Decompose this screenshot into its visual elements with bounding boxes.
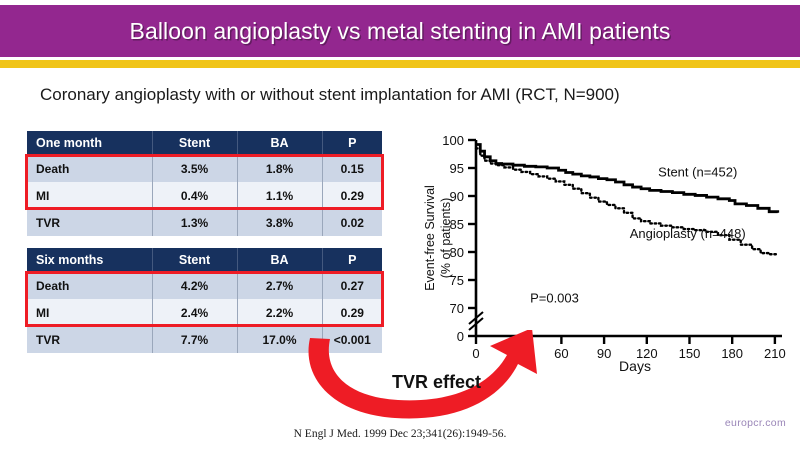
citation-text: N Engl J Med. 1999 Dec 23;341(26):1949-5… — [0, 428, 800, 440]
table-one-month: One month Stent BA P Death 3.5% 1.8% 0.1… — [27, 131, 382, 236]
table-row: TVR 1.3% 3.8% 0.02 — [27, 209, 382, 236]
row-label: MI — [27, 299, 152, 326]
cell-p: 0.29 — [322, 182, 382, 209]
cell-p: 0.29 — [322, 299, 382, 326]
europcr-logo: europcr.com — [725, 417, 786, 429]
x-tick-label: 180 — [721, 346, 743, 361]
table-row: Death 4.2% 2.7% 0.27 — [27, 272, 382, 299]
cell-ba: 2.2% — [237, 299, 322, 326]
col-header-period: One month — [27, 131, 152, 155]
chart-annotation-1: Stent (n=452) — [658, 164, 737, 179]
table-row: MI 0.4% 1.1% 0.29 — [27, 182, 382, 209]
col-header-p: P — [322, 248, 382, 272]
cell-p: 0.02 — [322, 209, 382, 236]
cell-stent: 4.2% — [152, 272, 237, 299]
x-tick-label: 210 — [764, 346, 786, 361]
y-tick-label: 70 — [450, 301, 464, 316]
col-header-p: P — [322, 131, 382, 155]
y-tick-label: 95 — [450, 161, 464, 176]
cell-ba: 1.8% — [237, 155, 322, 182]
row-label: TVR — [27, 326, 152, 353]
row-label: Death — [27, 155, 152, 182]
slide-title-bar: Balloon angioplasty vs metal stenting in… — [0, 5, 800, 57]
x-tick-label: 60 — [554, 346, 568, 361]
cell-stent: 7.7% — [152, 326, 237, 353]
chart-annotations: P=0.003Stent (n=452)Angioplasty (n=448) — [530, 164, 746, 305]
row-label: MI — [27, 182, 152, 209]
table-row: MI 2.4% 2.2% 0.29 — [27, 299, 382, 326]
col-header-ba: BA — [237, 131, 322, 155]
table-header-row: Six months Stent BA P — [27, 248, 382, 272]
gold-accent-stripe — [0, 60, 800, 68]
col-header-period: Six months — [27, 248, 152, 272]
y-tick-label: 100 — [442, 133, 464, 148]
row-label: Death — [27, 272, 152, 299]
col-header-stent: Stent — [152, 248, 237, 272]
table-row: Death 3.5% 1.8% 0.15 — [27, 155, 382, 182]
y-axis-label: Event-free Survival (% of patients) — [423, 185, 453, 291]
cell-ba: 3.8% — [237, 209, 322, 236]
table-header-row: One month Stent BA P — [27, 131, 382, 155]
row-label: TVR — [27, 209, 152, 236]
cell-ba: 2.7% — [237, 272, 322, 299]
page-title: Balloon angioplasty vs metal stenting in… — [130, 18, 671, 45]
col-header-ba: BA — [237, 248, 322, 272]
svg-text:Event-free Survival: Event-free Survival — [423, 185, 437, 291]
slide-root: Balloon angioplasty vs metal stenting in… — [0, 0, 800, 450]
cell-stent: 3.5% — [152, 155, 237, 182]
x-tick-label: 150 — [679, 346, 701, 361]
cell-stent: 2.4% — [152, 299, 237, 326]
svg-text:(% of patients): (% of patients) — [439, 198, 453, 279]
cell-stent: 1.3% — [152, 209, 237, 236]
x-axis-label: Days — [619, 358, 651, 374]
chart-annotation-0: P=0.003 — [530, 290, 579, 305]
col-header-stent: Stent — [152, 131, 237, 155]
x-tick-label: 90 — [597, 346, 611, 361]
cell-ba: 1.1% — [237, 182, 322, 209]
slide-subtitle: Coronary angioplasty with or without ste… — [40, 85, 770, 105]
cell-p: 0.15 — [322, 155, 382, 182]
chart-annotation-2: Angioplasty (n=448) — [630, 226, 746, 241]
tvr-effect-label: TVR effect — [392, 372, 481, 393]
cell-p: 0.27 — [322, 272, 382, 299]
cell-stent: 0.4% — [152, 182, 237, 209]
